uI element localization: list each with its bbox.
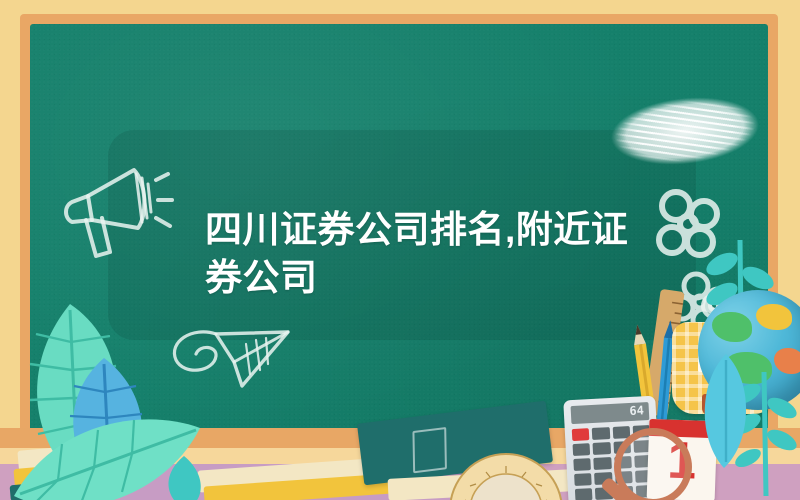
magnifier-icon [614,428,692,500]
page-title-line-1: 四川证券公司排名,附近证 [205,206,675,254]
leaf-teal-small [150,452,220,500]
calculator-key [594,457,612,470]
calculator-display-value: 64 [629,403,644,418]
page-title: 四川证券公司排名,附近证 券公司 [205,206,675,302]
magnifier-lens [614,428,692,500]
calculator-key [593,442,611,455]
book-cover-label [412,427,446,473]
page-title-line-2: 券公司 [205,254,675,302]
calculator-key [592,427,610,440]
calculator-key [575,488,593,500]
protractor-icon [446,448,566,500]
banner-image: 四川证券公司排名,附近证 券公司 [0,0,800,500]
globe-landmass [712,312,752,342]
calculator-display: 64 [571,402,650,424]
calculator-key [573,443,591,456]
calculator-key [574,473,592,486]
calculator-key [573,458,591,471]
calculator-key-ac [572,428,590,441]
leaf-blue-over-backpack [690,352,760,472]
globe-landmass [756,304,792,330]
